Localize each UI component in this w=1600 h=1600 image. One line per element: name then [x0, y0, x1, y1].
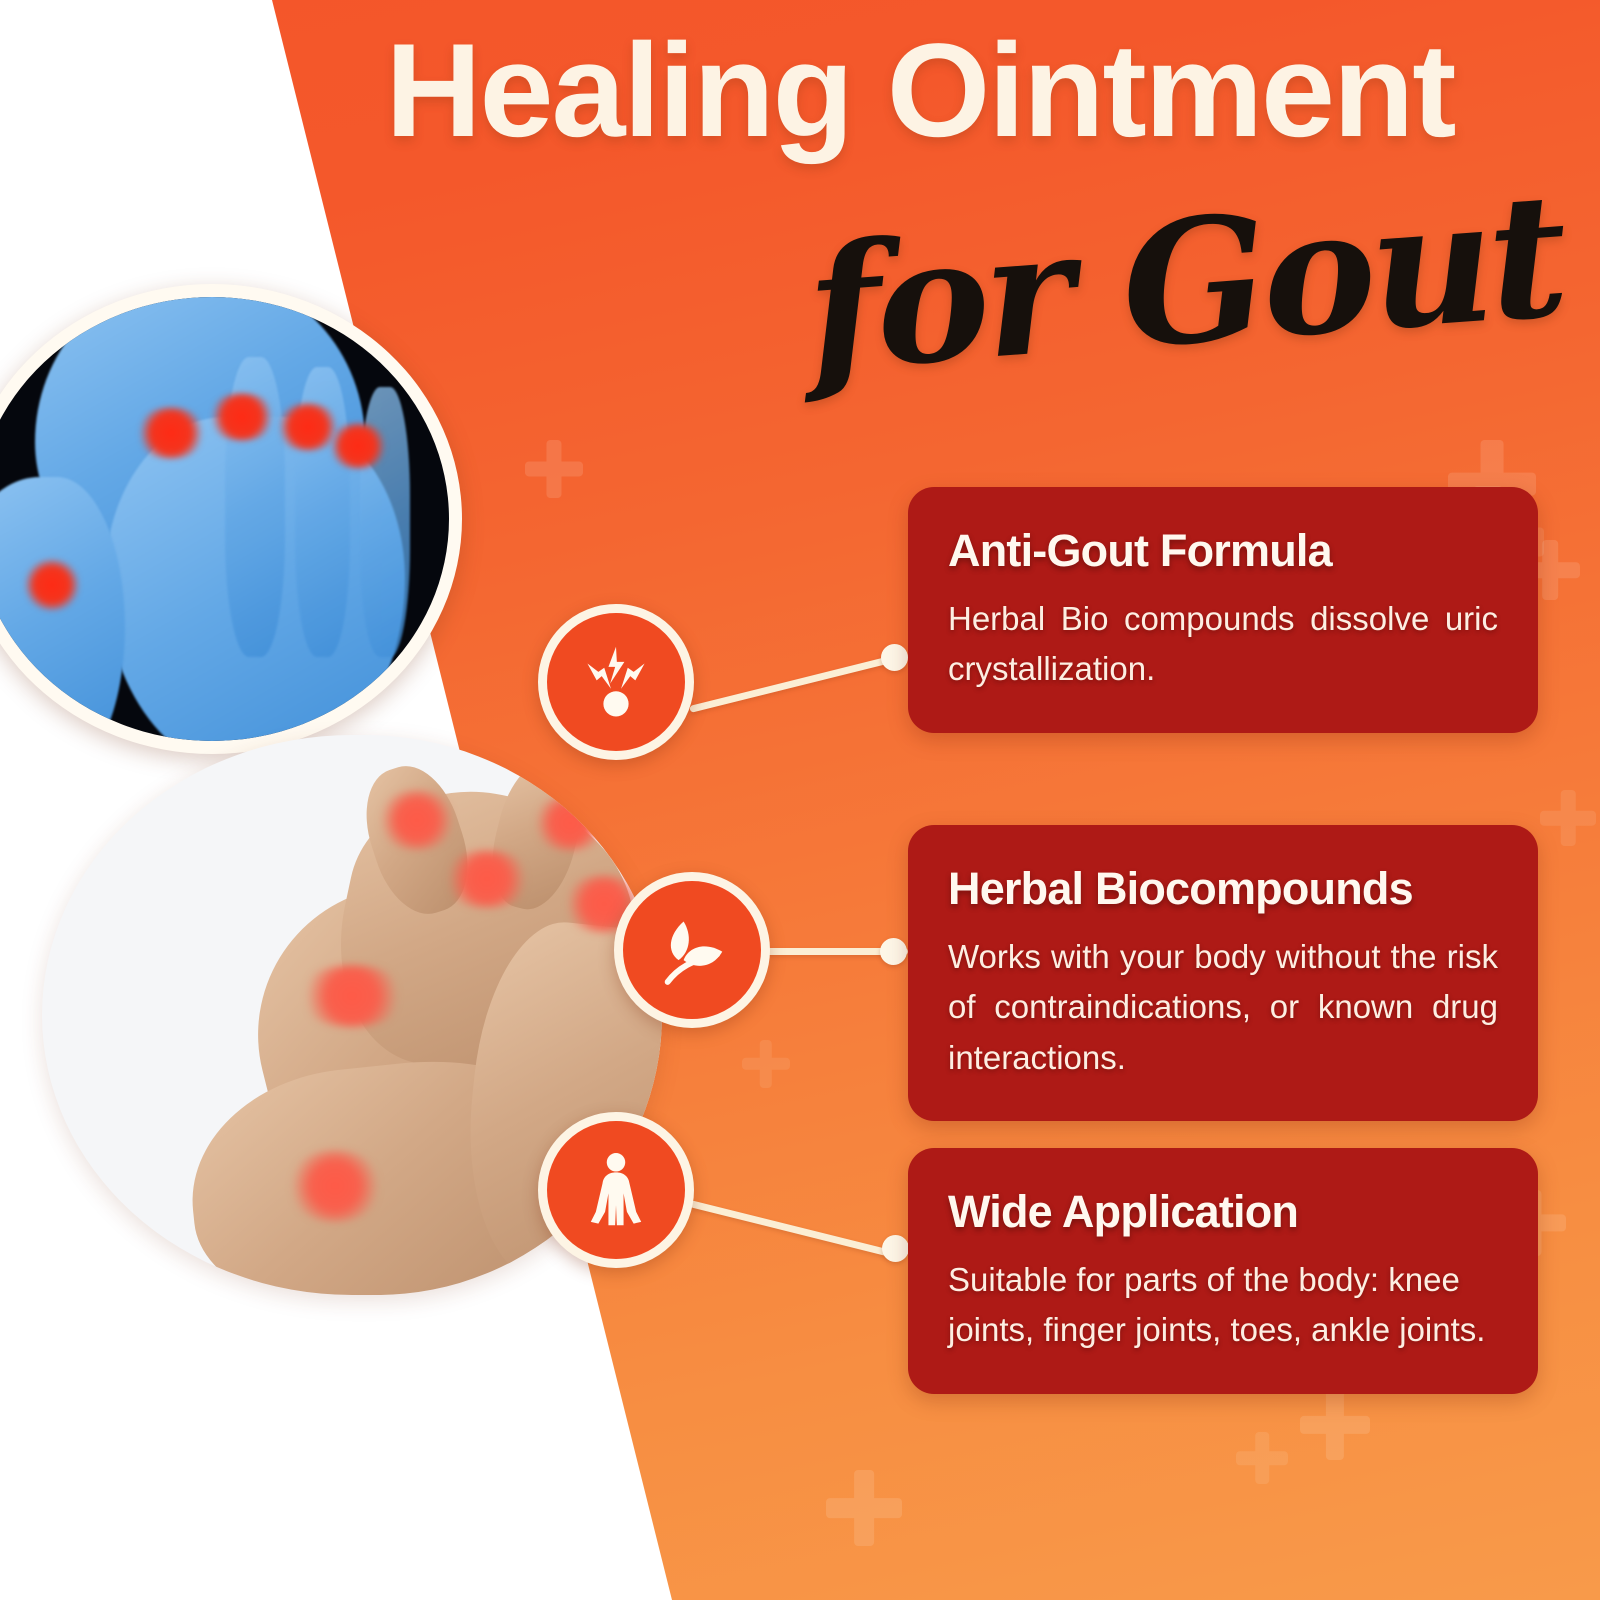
leaf-icon	[650, 908, 734, 992]
feature-icon-badge-3[interactable]	[538, 1112, 694, 1268]
joint-xray-photo	[0, 284, 462, 754]
feature-title: Herbal Biocompounds	[948, 865, 1498, 912]
feature-icon-badge-2[interactable]	[614, 872, 770, 1028]
poster-title: Healing Ointment	[255, 22, 1585, 162]
feature-card-1[interactable]: Anti-Gout Formula Herbal Bio compounds d…	[908, 487, 1538, 733]
feature-card-3[interactable]: Wide Application Suitable for parts of t…	[908, 1148, 1538, 1394]
feature-title: Wide Application	[948, 1188, 1498, 1235]
human-body-icon	[574, 1148, 658, 1232]
pain-lightning-icon	[574, 640, 658, 724]
xray-image-inner	[0, 297, 449, 741]
poster-canvas: Healing Ointment for Gout	[0, 0, 1600, 1600]
feature-body: Suitable for parts of the body: knee joi…	[948, 1255, 1498, 1355]
feature-title: Anti-Gout Formula	[948, 527, 1498, 574]
feature-card-2[interactable]: Herbal Biocompounds Works with your body…	[908, 825, 1538, 1121]
feature-body: Herbal Bio compounds dissolve uric cryst…	[948, 594, 1498, 694]
feature-body: Works with your body without the risk of…	[948, 932, 1498, 1082]
feature-icon-badge-1[interactable]	[538, 604, 694, 760]
